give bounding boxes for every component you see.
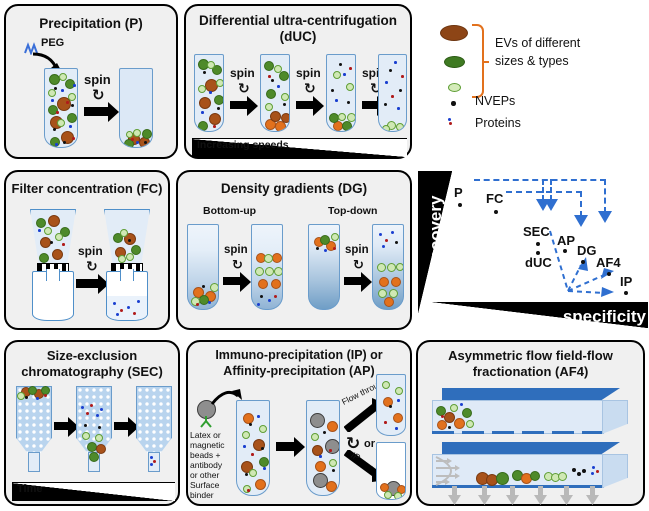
chart-point-label-IP: IP xyxy=(620,274,632,289)
panel-duc-title-line1: Differential ultra-centrifugation xyxy=(186,13,410,28)
arrow-right-icon xyxy=(296,101,315,109)
chart-point-label-AF4: AF4 xyxy=(596,255,621,270)
tube-dg-topdown-out xyxy=(372,224,404,310)
tube-duc-1 xyxy=(194,54,224,132)
tube-dg-topdown-in xyxy=(308,224,340,310)
panel-sec-title-line1: Size-exclusion xyxy=(6,349,178,364)
spin-icon: ↻ xyxy=(304,80,316,97)
af4-channel-top xyxy=(432,388,630,438)
panel-duc-title-line2: (dUC) xyxy=(186,29,410,44)
arrow-right-icon xyxy=(344,277,363,285)
panel-af4-title-line1: Asymmetric flow field-flow xyxy=(418,349,643,364)
chart-point-label-P: P xyxy=(454,185,463,200)
tube-sample-precipitation xyxy=(44,68,78,148)
dg-spin-label-bu: spin xyxy=(224,244,248,256)
legend-nvep-icon xyxy=(451,101,456,106)
legend-protein-icon xyxy=(448,118,458,128)
af4-channel-bottom xyxy=(432,442,630,498)
chart-point-label-DG: DG xyxy=(577,243,597,258)
af4-crossflow-arrows xyxy=(432,486,612,504)
panel-dg-title: Density gradients (DG) xyxy=(178,181,410,196)
panel-precipitation: Precipitation (P) PEG xyxy=(4,4,178,159)
panel-fc-title: Filter concentration (FC) xyxy=(6,182,168,197)
tube-dg-bottomup-in xyxy=(187,224,219,310)
chart-point-label-FC: FC xyxy=(486,191,503,206)
tube-duc-4 xyxy=(378,54,407,132)
chart-point-dUC xyxy=(536,251,540,255)
panel-sec-title-line2: chromatography (SEC) xyxy=(6,365,178,380)
spin-icon: ↻ xyxy=(92,86,105,104)
legend-brace xyxy=(472,24,484,98)
chart-point-label-dUC: dUC xyxy=(525,255,552,270)
chart-lower-arrows xyxy=(418,169,648,331)
chart-point-IP xyxy=(624,291,628,295)
legend-ev-medium-icon xyxy=(444,56,465,68)
legend-nvep-label: NVEPs xyxy=(475,94,515,109)
tube-ip-flowthrough xyxy=(376,374,406,436)
spin-icon: ↻ xyxy=(238,80,250,97)
legend: EVs of different sizes & types NVEPs Pro… xyxy=(420,6,646,156)
tube-ip-pellet xyxy=(376,442,406,500)
fc-spin-label: spin xyxy=(78,244,103,258)
precipitation-spin-label: spin xyxy=(84,72,111,87)
tube-pellet-precipitation xyxy=(119,68,153,148)
af4-flow-profile-icon xyxy=(434,456,472,486)
arrow-right-icon xyxy=(223,277,242,285)
chart-point-SEC xyxy=(536,242,540,246)
chart-point-label-SEC: SEC xyxy=(523,224,550,239)
panel-ip-ap: Immuno-precipitation (IP) or Affinity-pr… xyxy=(186,340,412,506)
tube-dg-bottomup-out xyxy=(251,224,283,310)
panel-sec: Size-exclusion chromatography (SEC) xyxy=(4,340,180,506)
chart-point-label-AP: AP xyxy=(557,233,575,248)
chart-point-DG xyxy=(581,260,585,264)
panel-precipitation-title: Precipitation (P) xyxy=(6,16,176,31)
legend-ev-small-icon xyxy=(448,83,461,92)
tube-duc-2 xyxy=(260,54,290,132)
legend-ev-large-icon xyxy=(440,25,468,41)
chart-point-AP xyxy=(563,249,567,253)
legend-ev-label-line1: EVs of different xyxy=(495,36,580,51)
legend-protein-label: Proteins xyxy=(475,116,521,131)
recovery-specificity-chart: recovery specificity P FC SEC AP DG dUC … xyxy=(417,168,649,332)
bead-caption: Latex or magnetic beads + antibody or ot… xyxy=(190,430,236,500)
tube-ip-input xyxy=(236,400,270,496)
arrow-right-icon xyxy=(84,107,110,116)
panel-duc: Differential ultra-centrifugation (dUC) … xyxy=(184,4,412,159)
peg-label: PEG xyxy=(41,37,64,50)
tube-ip-bound xyxy=(306,400,340,496)
arrow-right-icon xyxy=(54,422,70,430)
duc-speed-label: Increasing speeds xyxy=(197,139,289,151)
dg-mode-top-down: Top-down xyxy=(328,205,377,217)
duc-spin-label-1: spin xyxy=(230,66,255,80)
dg-mode-bottom-up: Bottom-up xyxy=(203,205,256,217)
arrow-right-icon xyxy=(76,279,100,288)
arrow-right-icon xyxy=(114,422,130,430)
panel-ip-title-line1: Immuno-precipitation (IP) or xyxy=(188,348,410,362)
legend-ev-label-line2: sizes & types xyxy=(495,54,569,69)
panel-af4-title-line2: fractionation (AF4) xyxy=(418,365,643,380)
arrow-right-icon xyxy=(230,101,249,109)
chart-point-P xyxy=(458,203,462,207)
duc-spin-label-2: spin xyxy=(296,66,321,80)
chart-point-AF4 xyxy=(607,272,611,276)
chart-point-FC xyxy=(494,210,498,214)
arrow-right-icon xyxy=(362,101,379,109)
spin-icon: ↻ xyxy=(86,258,98,275)
tube-duc-3 xyxy=(326,54,356,132)
arrow-right-icon xyxy=(276,442,296,451)
sec-time-label: Time xyxy=(17,483,42,495)
panel-filter-concentration: Filter concentration (FC) spin ↻ xyxy=(4,170,170,330)
dg-spin-label-td: spin xyxy=(345,244,369,256)
panel-density-gradients: Density gradients (DG) Bottom-up Top-dow… xyxy=(176,170,412,330)
panel-af4: Asymmetric flow field-flow fractionation… xyxy=(416,340,645,506)
